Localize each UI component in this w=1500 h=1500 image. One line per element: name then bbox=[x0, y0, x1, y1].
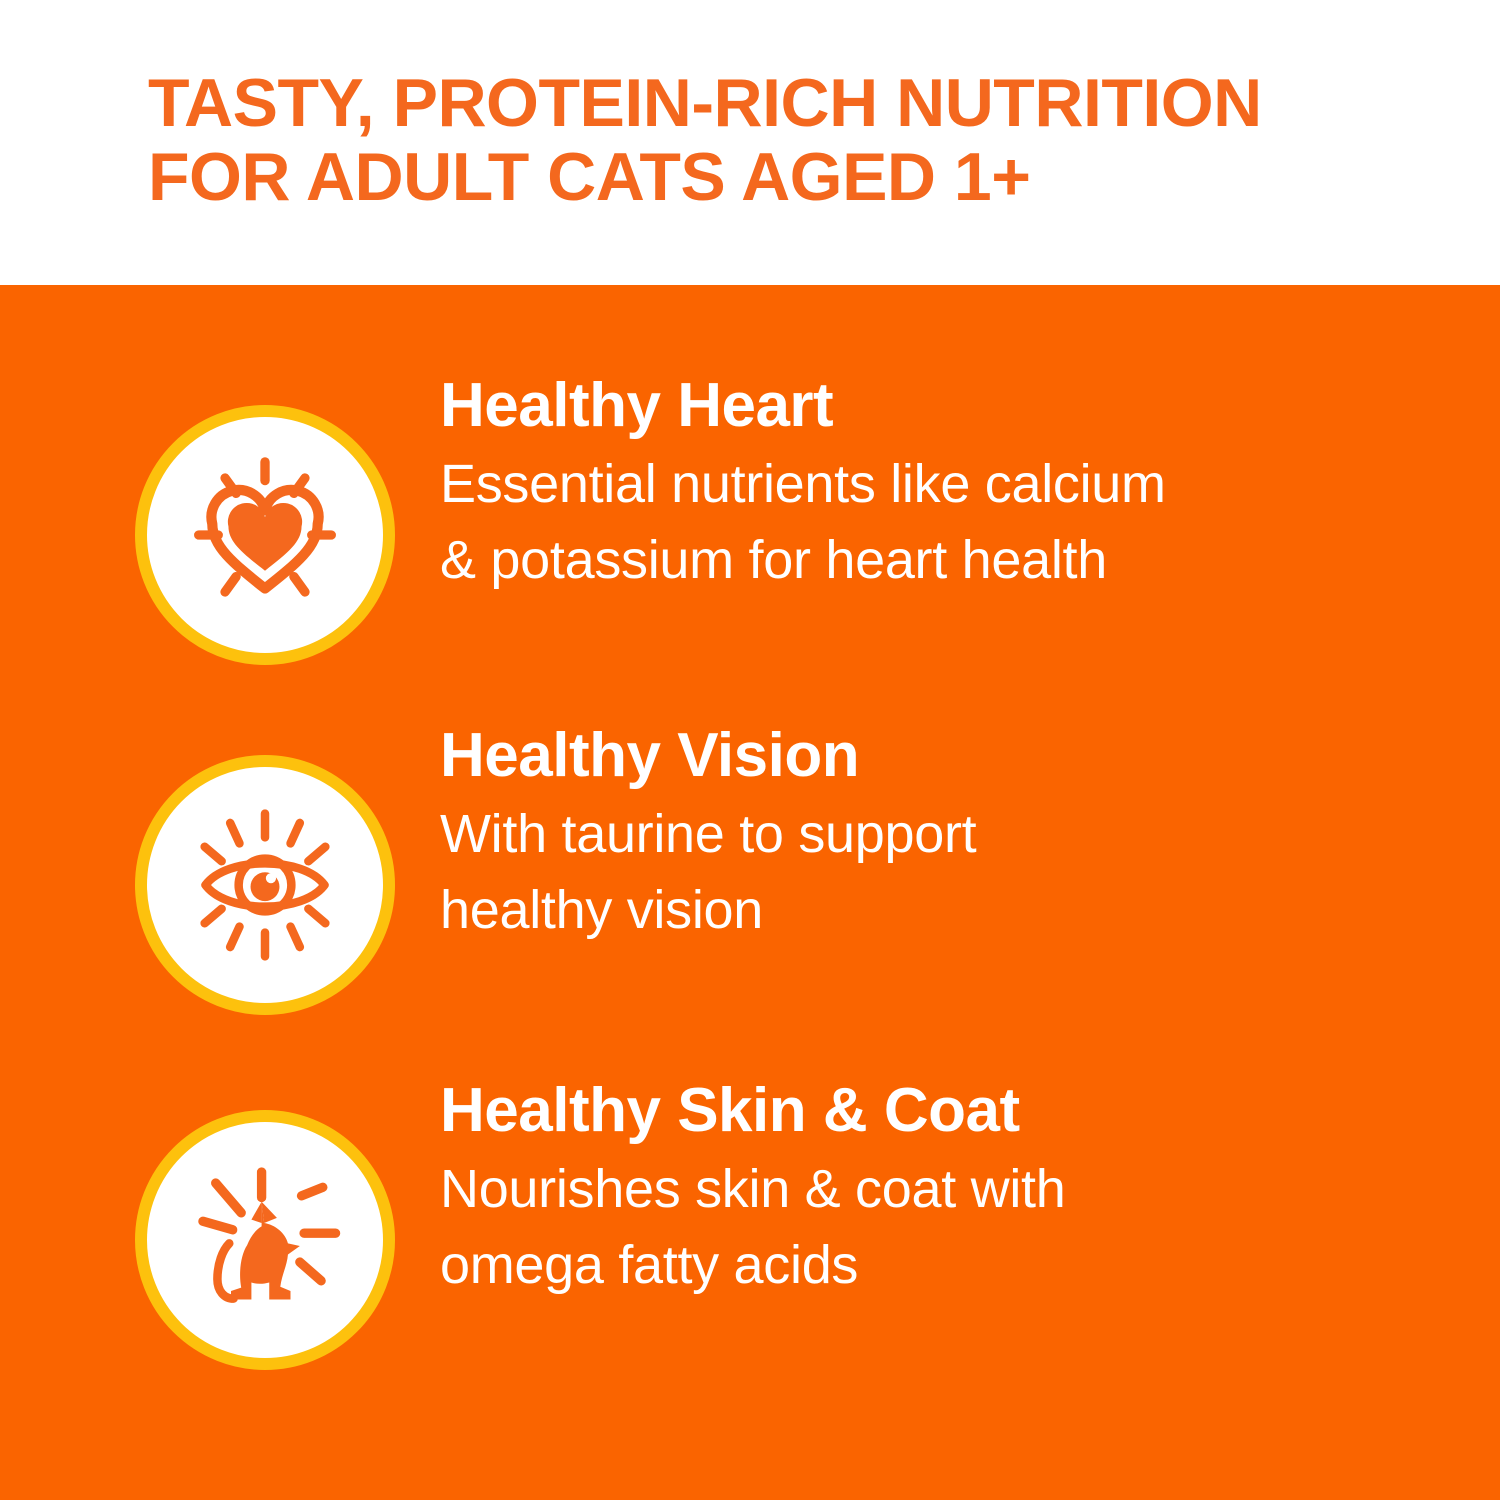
benefit-text-skin-coat: Healthy Skin & Coat Nourishes skin & coa… bbox=[440, 1075, 1400, 1303]
benefit-title: Healthy Heart bbox=[440, 370, 1400, 442]
page-title: Tasty, protein-rich nutrition for adult … bbox=[148, 66, 1418, 214]
benefit-title: Healthy Skin & Coat bbox=[440, 1075, 1400, 1147]
benefit-item-healthy-vision: Healthy Vision With taurine to support h… bbox=[0, 720, 1500, 1060]
benefit-description: With taurine to support healthy vision bbox=[440, 796, 1400, 948]
benefit-item-healthy-heart: Healthy Heart Essential nutrients like c… bbox=[0, 370, 1500, 710]
benefit-list: Healthy Heart Essential nutrients like c… bbox=[0, 285, 1500, 1500]
radiant-eye-icon bbox=[180, 800, 350, 970]
header-band: Tasty, protein-rich nutrition for adult … bbox=[0, 0, 1500, 285]
benefit-text-vision: Healthy Vision With taurine to support h… bbox=[440, 720, 1400, 948]
benefits-poster: Tasty, protein-rich nutrition for adult … bbox=[0, 0, 1500, 1500]
benefit-description: Nourishes skin & coat with omega fatty a… bbox=[440, 1151, 1400, 1303]
benefit-description: Essential nutrients like calcium & potas… bbox=[440, 446, 1400, 598]
benefit-title: Healthy Vision bbox=[440, 720, 1400, 792]
radiant-heart-icon bbox=[180, 450, 350, 620]
benefit-text-heart: Healthy Heart Essential nutrients like c… bbox=[440, 370, 1400, 598]
orange-content-band: Healthy Heart Essential nutrients like c… bbox=[0, 285, 1500, 1500]
radiant-cat-icon bbox=[180, 1155, 350, 1325]
benefit-item-healthy-skin-coat: Healthy Skin & Coat Nourishes skin & coa… bbox=[0, 1075, 1500, 1415]
icon-badge-heart bbox=[135, 405, 395, 665]
icon-badge-cat bbox=[135, 1110, 395, 1370]
icon-badge-eye bbox=[135, 755, 395, 1015]
